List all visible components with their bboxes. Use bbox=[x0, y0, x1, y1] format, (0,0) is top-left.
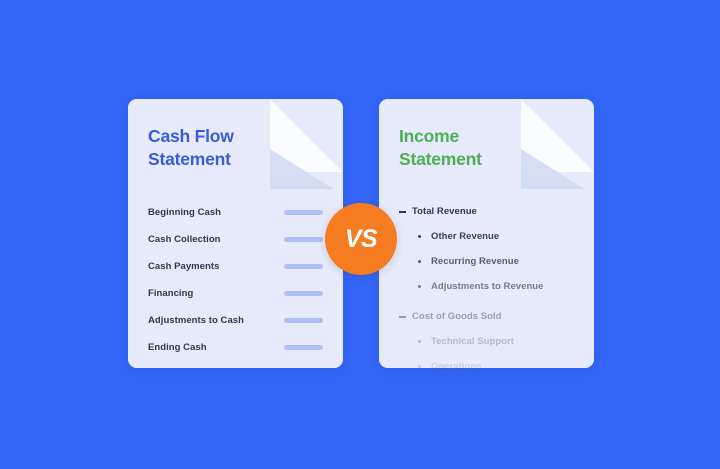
income-statement-line-item: Other Revenue bbox=[399, 224, 582, 249]
cash-flow-line-item-label: Adjustments to Cash bbox=[148, 315, 244, 326]
cash-flow-line-item-label: Beginning Cash bbox=[148, 207, 221, 218]
income-statement-line-item: Cost of Goods Sold bbox=[399, 304, 582, 329]
right-card-title-line1: Income bbox=[399, 125, 519, 148]
value-placeholder-bar bbox=[284, 264, 323, 269]
cash-flow-line-item-label: Cash Collection bbox=[148, 234, 221, 245]
cash-flow-line-item: Adjustments to Cash bbox=[148, 307, 329, 334]
bullet-marker-icon bbox=[418, 340, 431, 343]
dash-marker-icon bbox=[399, 210, 412, 213]
bullet-marker-icon bbox=[418, 365, 431, 368]
comparison-graphic: Cash Flow Statement Beginning CashCash C… bbox=[0, 0, 720, 469]
left-card-title: Cash Flow Statement bbox=[148, 125, 268, 171]
right-card-title: Income Statement bbox=[399, 125, 519, 171]
income-statement-card: Income Statement Total RevenueOther Reve… bbox=[379, 99, 594, 368]
income-statement-line-item: Technical Support bbox=[399, 329, 582, 354]
income-statement-line-item-label: Other Revenue bbox=[431, 231, 499, 242]
value-placeholder-bar bbox=[284, 318, 323, 323]
versus-badge: VS bbox=[325, 203, 397, 275]
income-statement-line-item: Operations bbox=[399, 354, 582, 379]
dash-marker-icon bbox=[399, 315, 412, 318]
income-statement-line-item-label: Recurring Revenue bbox=[431, 256, 519, 267]
value-placeholder-bar bbox=[284, 237, 323, 242]
cash-flow-line-item: Ending Cash bbox=[148, 334, 329, 361]
income-statement-line-item: Total Revenue bbox=[399, 199, 582, 224]
cash-flow-line-item-list: Beginning CashCash CollectionCash Paymen… bbox=[148, 199, 329, 361]
cash-flow-line-item: Beginning Cash bbox=[148, 199, 329, 226]
income-statement-line-item-label: Total Revenue bbox=[412, 206, 477, 217]
bullet-marker-icon bbox=[418, 260, 431, 263]
bullet-marker-icon bbox=[418, 285, 431, 288]
cash-flow-line-item-label: Ending Cash bbox=[148, 342, 207, 353]
value-placeholder-bar bbox=[284, 210, 323, 215]
income-statement-line-item-list: Total RevenueOther RevenueRecurring Reve… bbox=[399, 199, 582, 379]
cash-flow-line-item: Cash Collection bbox=[148, 226, 329, 253]
versus-badge-label: VS bbox=[345, 227, 377, 252]
cash-flow-statement-card: Cash Flow Statement Beginning CashCash C… bbox=[128, 99, 343, 368]
right-card-title-line2: Statement bbox=[399, 148, 519, 171]
left-card-title-line1: Cash Flow bbox=[148, 125, 268, 148]
cash-flow-line-item: Financing bbox=[148, 280, 329, 307]
cash-flow-line-item-label: Financing bbox=[148, 288, 193, 299]
value-placeholder-bar bbox=[284, 291, 323, 296]
income-statement-line-item-label: Cost of Goods Sold bbox=[412, 311, 502, 322]
bullet-marker-icon bbox=[418, 235, 431, 238]
income-statement-line-item-label: Operations bbox=[431, 361, 482, 372]
income-statement-line-item-label: Adjustments to Revenue bbox=[431, 281, 543, 292]
value-placeholder-bar bbox=[284, 345, 323, 350]
income-statement-line-item: Recurring Revenue bbox=[399, 249, 582, 274]
cash-flow-line-item-label: Cash Payments bbox=[148, 261, 219, 272]
income-statement-line-item-label: Technical Support bbox=[431, 336, 514, 347]
left-card-title-line2: Statement bbox=[148, 148, 268, 171]
cash-flow-line-item: Cash Payments bbox=[148, 253, 329, 280]
income-statement-line-item: Adjustments to Revenue bbox=[399, 274, 582, 299]
